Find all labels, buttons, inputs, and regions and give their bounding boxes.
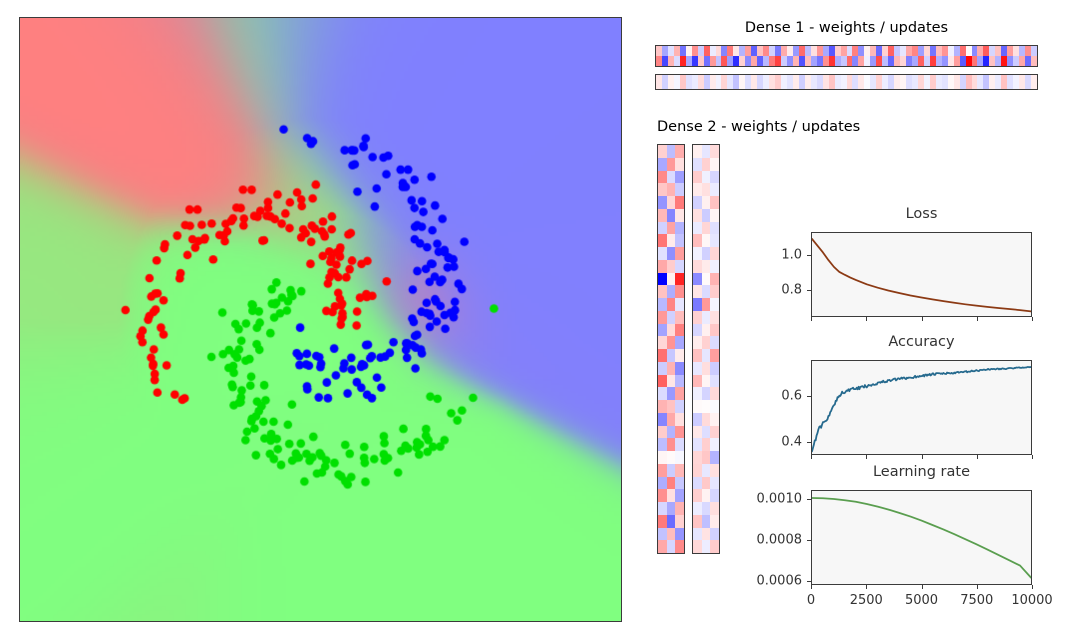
heatmap-cell xyxy=(667,387,676,400)
heatmap-cell xyxy=(667,464,676,477)
heatmap-cell xyxy=(675,298,684,311)
heatmap-cell xyxy=(667,515,676,528)
loss-chart-title: Loss xyxy=(811,206,1032,222)
heatmap-cell xyxy=(710,477,719,490)
heatmap-cell xyxy=(702,502,711,515)
heatmap-cell xyxy=(710,324,719,337)
heatmap-cell xyxy=(702,311,711,324)
heatmap-cell xyxy=(693,273,702,286)
heatmap-cell xyxy=(1031,75,1037,89)
accuracy-line xyxy=(812,367,1031,451)
heatmap-cell xyxy=(675,387,684,400)
heatmap-cell xyxy=(702,247,711,260)
heatmap-cell xyxy=(667,375,676,388)
x-tick-label: 2500 xyxy=(850,593,883,608)
heatmap-cell xyxy=(667,362,676,375)
heatmap-cell xyxy=(658,477,667,490)
heatmap-cell xyxy=(658,515,667,528)
x-tick-mark xyxy=(922,585,923,589)
heatmap-cell xyxy=(675,336,684,349)
heatmap-cell xyxy=(675,222,684,235)
heatmap-cell xyxy=(702,540,711,553)
heatmap-cell xyxy=(658,145,667,158)
heatmap-cell xyxy=(658,222,667,235)
heatmap-cell xyxy=(693,171,702,184)
heatmap-cell xyxy=(675,400,684,413)
heatmap-cell xyxy=(710,196,719,209)
heatmap-cell xyxy=(667,438,676,451)
heatmap-cell xyxy=(658,158,667,171)
heatmap-cell xyxy=(710,362,719,375)
heatmap-cell xyxy=(658,209,667,222)
heatmap-cell xyxy=(693,438,702,451)
x-tick-mark xyxy=(811,317,812,321)
heatmap-cell xyxy=(675,528,684,541)
heatmap-cell xyxy=(693,426,702,439)
heatmap-cell xyxy=(667,349,676,362)
y-tick-mark xyxy=(807,442,811,443)
heatmap-cell xyxy=(702,375,711,388)
heatmap-cell xyxy=(710,311,719,324)
heatmap-cell xyxy=(675,234,684,247)
heatmap-cell xyxy=(710,438,719,451)
heatmap-cell xyxy=(702,298,711,311)
heatmap-cell xyxy=(702,196,711,209)
accuracy-chart-title: Accuracy xyxy=(811,334,1032,350)
heatmap-cell xyxy=(693,451,702,464)
x-tick-mark xyxy=(977,455,978,459)
heatmap-cell xyxy=(702,209,711,222)
heatmap-cell xyxy=(693,196,702,209)
x-tick-mark xyxy=(866,585,867,589)
heatmap-cell xyxy=(667,336,676,349)
learning-rate-line xyxy=(812,498,1031,578)
x-tick-label: 0 xyxy=(807,593,815,608)
dense2-title: Dense 2 - weights / updates xyxy=(657,119,860,135)
heatmap-cell xyxy=(675,426,684,439)
heatmap-cell xyxy=(675,438,684,451)
heatmap-cell xyxy=(693,413,702,426)
heatmap-cell xyxy=(710,158,719,171)
heatmap-cell xyxy=(675,489,684,502)
heatmap-cell xyxy=(702,222,711,235)
heatmap-cell xyxy=(667,477,676,490)
accuracy-axes xyxy=(811,360,1032,455)
dense1-weights-heatmap xyxy=(655,45,1038,67)
heatmap-cell xyxy=(693,349,702,362)
heatmap-cell xyxy=(693,336,702,349)
heatmap-cell xyxy=(675,171,684,184)
heatmap-cell xyxy=(693,502,702,515)
heatmap-cell xyxy=(667,489,676,502)
heatmap-cell xyxy=(658,336,667,349)
heatmap-cell xyxy=(667,273,676,286)
heatmap-cell xyxy=(658,362,667,375)
heatmap-cell xyxy=(710,540,719,553)
heatmap-cell xyxy=(693,528,702,541)
heatmap-cell xyxy=(658,285,667,298)
dense2-weights-heatmap xyxy=(657,144,685,554)
y-tick-label: 0.0010 xyxy=(732,492,802,507)
y-tick-label: 1.0 xyxy=(732,248,802,263)
y-tick-mark xyxy=(807,396,811,397)
decision-boundary-canvas xyxy=(20,18,621,621)
heatmap-cell xyxy=(675,464,684,477)
loss-chart: Loss 0.81.0 xyxy=(811,232,1032,317)
heatmap-cell xyxy=(702,489,711,502)
heatmap-cell xyxy=(658,387,667,400)
heatmap-cell xyxy=(710,234,719,247)
y-tick-label: 0.0008 xyxy=(732,533,802,548)
heatmap-cell xyxy=(675,362,684,375)
heatmap-cell xyxy=(667,183,676,196)
heatmap-cell xyxy=(675,285,684,298)
heatmap-cell xyxy=(693,387,702,400)
dense2-updates-heatmap xyxy=(692,144,720,554)
heatmap-cell xyxy=(710,285,719,298)
x-tick-mark xyxy=(922,317,923,321)
heatmap-cell xyxy=(658,183,667,196)
heatmap-cell xyxy=(675,515,684,528)
loss-line xyxy=(812,239,1031,312)
heatmap-cell xyxy=(710,145,719,158)
x-tick-mark xyxy=(1032,455,1033,459)
heatmap-cell xyxy=(702,336,711,349)
heatmap-cell xyxy=(675,145,684,158)
heatmap-cell xyxy=(710,502,719,515)
heatmap-cell xyxy=(675,158,684,171)
heatmap-cell xyxy=(667,400,676,413)
heatmap-cell xyxy=(667,413,676,426)
heatmap-cell xyxy=(667,209,676,222)
heatmap-cell xyxy=(675,209,684,222)
heatmap-cell xyxy=(667,247,676,260)
heatmap-cell xyxy=(667,222,676,235)
y-tick-label: 0.8 xyxy=(732,283,802,298)
heatmap-cell xyxy=(658,375,667,388)
heatmap-cell xyxy=(702,260,711,273)
y-tick-label: 0.0006 xyxy=(732,573,802,588)
heatmap-cell xyxy=(702,183,711,196)
y-tick-mark xyxy=(807,581,811,582)
heatmap-cell xyxy=(710,489,719,502)
heatmap-cell xyxy=(658,247,667,260)
y-tick-mark xyxy=(807,540,811,541)
heatmap-cell xyxy=(702,273,711,286)
learning-rate-axes xyxy=(811,490,1032,585)
heatmap-cell xyxy=(693,400,702,413)
heatmap-cell xyxy=(1031,46,1037,56)
heatmap-cell xyxy=(675,451,684,464)
heatmap-cell xyxy=(667,298,676,311)
heatmap-cell xyxy=(693,298,702,311)
heatmap-cell xyxy=(658,234,667,247)
heatmap-cell xyxy=(710,375,719,388)
heatmap-cell xyxy=(667,285,676,298)
heatmap-cell xyxy=(710,171,719,184)
heatmap-cell xyxy=(702,349,711,362)
heatmap-cell xyxy=(667,260,676,273)
heatmap-cell xyxy=(702,362,711,375)
heatmap-cell xyxy=(693,324,702,337)
heatmap-cell xyxy=(658,413,667,426)
heatmap-cell xyxy=(675,375,684,388)
heatmap-cell xyxy=(693,145,702,158)
accuracy-chart: Accuracy 0.40.6 xyxy=(811,360,1032,455)
heatmap-cell xyxy=(710,528,719,541)
x-tick-mark xyxy=(866,317,867,321)
heatmap-cell xyxy=(693,222,702,235)
x-tick-mark xyxy=(922,455,923,459)
heatmap-cell xyxy=(675,324,684,337)
heatmap-cell xyxy=(710,183,719,196)
heatmap-cell xyxy=(710,273,719,286)
dense1-updates-heatmap xyxy=(655,74,1038,90)
x-tick-mark xyxy=(811,455,812,459)
heatmap-cell xyxy=(710,400,719,413)
heatmap-cell xyxy=(702,145,711,158)
heatmap-cell xyxy=(658,273,667,286)
x-tick-label: 10000 xyxy=(1011,593,1052,608)
heatmap-cell xyxy=(702,158,711,171)
heatmap-cell xyxy=(658,311,667,324)
heatmap-cell xyxy=(675,260,684,273)
heatmap-cell xyxy=(667,234,676,247)
heatmap-cell xyxy=(710,464,719,477)
heatmap-cell xyxy=(702,464,711,477)
heatmap-cell xyxy=(710,387,719,400)
x-tick-mark xyxy=(866,455,867,459)
heatmap-cell xyxy=(658,171,667,184)
heatmap-cell xyxy=(667,426,676,439)
heatmap-cell xyxy=(675,273,684,286)
y-tick-label: 0.4 xyxy=(732,435,802,450)
heatmap-cell xyxy=(710,260,719,273)
heatmap-cell xyxy=(693,183,702,196)
heatmap-cell xyxy=(702,400,711,413)
heatmap-cell xyxy=(693,362,702,375)
dense1-title: Dense 1 - weights / updates xyxy=(655,20,1038,36)
x-tick-mark xyxy=(1032,585,1033,589)
heatmap-cell xyxy=(702,438,711,451)
heatmap-cell xyxy=(675,477,684,490)
heatmap-cell xyxy=(693,477,702,490)
heatmap-cell xyxy=(667,540,676,553)
heatmap-cell xyxy=(658,464,667,477)
heatmap-cell xyxy=(667,196,676,209)
learning-rate-chart-title: Learning rate xyxy=(811,464,1032,480)
heatmap-cell xyxy=(710,515,719,528)
heatmap-cell xyxy=(675,413,684,426)
y-tick-mark xyxy=(807,499,811,500)
loss-axes xyxy=(811,232,1032,317)
heatmap-cell xyxy=(658,298,667,311)
decision-boundary-panel xyxy=(19,17,622,622)
heatmap-cell xyxy=(693,260,702,273)
heatmap-cell xyxy=(693,311,702,324)
heatmap-cell xyxy=(702,171,711,184)
heatmap-cell xyxy=(702,285,711,298)
heatmap-cell xyxy=(658,438,667,451)
heatmap-cell xyxy=(667,158,676,171)
heatmap-cell xyxy=(693,209,702,222)
x-tick-label: 7500 xyxy=(960,593,993,608)
heatmap-cell xyxy=(710,426,719,439)
heatmap-cell xyxy=(667,171,676,184)
heatmap-cell xyxy=(675,540,684,553)
heatmap-cell xyxy=(702,426,711,439)
heatmap-cell xyxy=(667,502,676,515)
heatmap-cell xyxy=(693,234,702,247)
heatmap-cell xyxy=(702,477,711,490)
heatmap-cell xyxy=(658,451,667,464)
heatmap-cell xyxy=(658,528,667,541)
heatmap-cell xyxy=(693,515,702,528)
heatmap-cell xyxy=(710,209,719,222)
heatmap-cell xyxy=(702,387,711,400)
heatmap-cell xyxy=(710,349,719,362)
heatmap-cell xyxy=(675,349,684,362)
y-tick-mark xyxy=(807,255,811,256)
heatmap-cell xyxy=(675,196,684,209)
heatmap-cell xyxy=(658,489,667,502)
heatmap-cell xyxy=(667,528,676,541)
heatmap-cell xyxy=(693,158,702,171)
heatmap-cell xyxy=(658,324,667,337)
heatmap-cell xyxy=(702,413,711,426)
heatmap-cell xyxy=(710,413,719,426)
heatmap-cell xyxy=(658,400,667,413)
heatmap-cell xyxy=(675,311,684,324)
y-tick-mark xyxy=(807,290,811,291)
heatmap-cell xyxy=(658,540,667,553)
heatmap-cell xyxy=(658,260,667,273)
x-tick-label: 5000 xyxy=(905,593,938,608)
heatmap-cell xyxy=(702,515,711,528)
heatmap-cell xyxy=(675,183,684,196)
heatmap-cell xyxy=(667,324,676,337)
learning-rate-chart: Learning rate 0.00060.00080.001002500500… xyxy=(811,490,1032,585)
heatmap-cell xyxy=(675,247,684,260)
heatmap-cell xyxy=(693,464,702,477)
heatmap-cell xyxy=(702,324,711,337)
x-tick-mark xyxy=(977,585,978,589)
heatmap-cell xyxy=(693,489,702,502)
heatmap-cell xyxy=(667,451,676,464)
heatmap-cell xyxy=(658,349,667,362)
x-tick-mark xyxy=(1032,317,1033,321)
heatmap-cell xyxy=(675,502,684,515)
heatmap-cell xyxy=(693,285,702,298)
heatmap-cell xyxy=(658,196,667,209)
heatmap-cell xyxy=(693,247,702,260)
x-tick-mark xyxy=(811,585,812,589)
heatmap-cell xyxy=(658,502,667,515)
heatmap-cell xyxy=(667,311,676,324)
heatmap-cell xyxy=(710,451,719,464)
heatmap-cell xyxy=(693,375,702,388)
heatmap-cell xyxy=(667,145,676,158)
heatmap-cell xyxy=(702,528,711,541)
heatmap-cell xyxy=(1031,56,1037,66)
heatmap-cell xyxy=(693,540,702,553)
y-tick-label: 0.6 xyxy=(732,388,802,403)
x-tick-mark xyxy=(977,317,978,321)
heatmap-cell xyxy=(710,298,719,311)
heatmap-cell xyxy=(710,222,719,235)
heatmap-cell xyxy=(702,451,711,464)
heatmap-cell xyxy=(710,336,719,349)
heatmap-cell xyxy=(702,234,711,247)
heatmap-cell xyxy=(658,426,667,439)
heatmap-cell xyxy=(710,247,719,260)
